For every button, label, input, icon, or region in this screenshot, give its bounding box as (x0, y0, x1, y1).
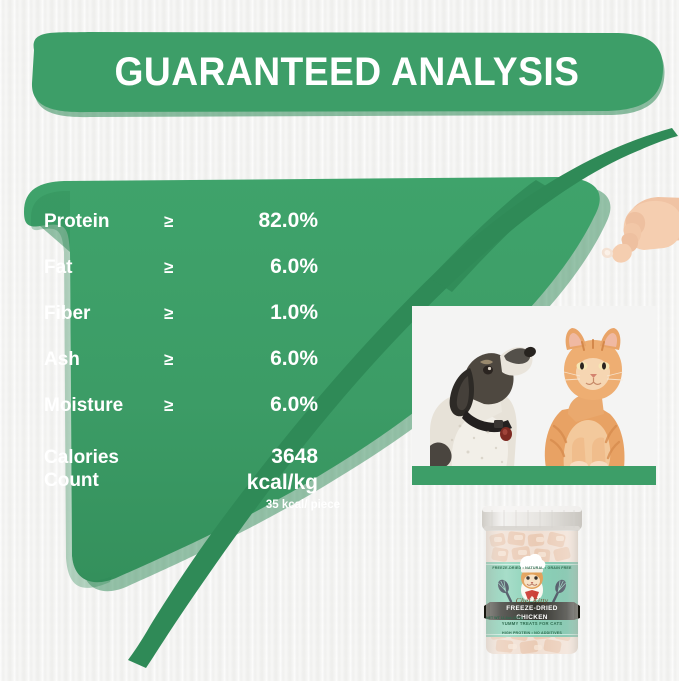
nutrient-operator: ≥ (164, 396, 222, 416)
nutrient-label: Ash (44, 348, 164, 371)
table-row: Ash ≥ 6.0% (44, 346, 344, 392)
nutrient-operator: ≥ (164, 304, 222, 324)
calories-label: CaloriesCount (44, 446, 164, 492)
green-shelf-bar (412, 466, 656, 485)
table-row: Moisture ≥ 6.0% (44, 392, 344, 438)
guaranteed-analysis-table: Protein ≥ 82.0% Fat ≥ 6.0% Fiber ≥ 1.0% … (44, 208, 344, 511)
guaranteed-analysis-infographic: GUARANTEED ANALYSIS Protein ≥ 82.0% Fat … (0, 0, 679, 681)
jar-lid (482, 506, 582, 531)
calories-per-piece-note: 35 kcal/ piece (44, 499, 344, 511)
pet-photos (412, 306, 656, 468)
title-banner-shape (32, 32, 663, 112)
calories-value: 3648kcal/kg (222, 444, 344, 495)
jar-glass-sheen (486, 530, 578, 654)
hand-holding-treat (560, 196, 679, 268)
nutrient-value: 1.0% (222, 300, 344, 326)
calories-label-line2: Count (44, 470, 99, 491)
table-row: Fat ≥ 6.0% (44, 254, 344, 300)
nutrient-label: Fiber (44, 302, 164, 325)
table-row: Protein ≥ 82.0% (44, 208, 344, 254)
nutrient-value: 6.0% (222, 392, 344, 418)
nutrient-operator: ≥ (164, 212, 222, 232)
nutrient-operator: ≥ (164, 258, 222, 278)
calories-label-line1: Calories (44, 447, 119, 468)
nutrient-value: 82.0% (222, 208, 344, 234)
nutrient-operator: ≥ (164, 350, 222, 370)
nutrient-label: Protein (44, 210, 164, 233)
calories-value-line2: kcal/kg (247, 471, 318, 494)
product-jar (478, 504, 586, 656)
nutrient-label: Fat (44, 256, 164, 279)
calories-value-line1: 3648 (271, 445, 318, 468)
nutrient-value: 6.0% (222, 254, 344, 280)
nutrient-value: 6.0% (222, 346, 344, 372)
calories-row: CaloriesCount 3648kcal/kg (44, 444, 344, 495)
nutrient-label: Moisture (44, 394, 164, 417)
table-row: Fiber ≥ 1.0% (44, 300, 344, 346)
